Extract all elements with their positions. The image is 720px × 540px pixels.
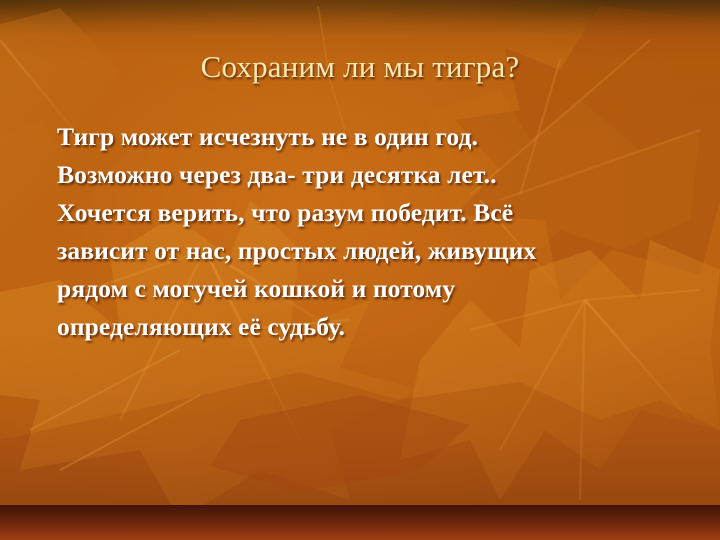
slide-title: Сохраним ли мы тигра? [0,47,720,87]
slide-body: Тигр может исчезнуть не в один год. Возм… [57,118,677,346]
bottom-accent-band [0,505,720,540]
body-line: определяющих её судьбу. [57,308,677,346]
slide-canvas: Сохраним ли мы тигра? Тигр может исчезну… [0,0,720,540]
body-line: Тигр может исчезнуть не в один год. [57,118,677,156]
body-line: зависит от нас, простых людей, живущих [57,232,677,270]
body-line: Возможно через два- три десятка лет.. [57,156,677,194]
body-line: Хочется верить, что разум победит. Всё [57,194,677,232]
body-line: рядом с могучей кошкой и потому [57,270,677,308]
